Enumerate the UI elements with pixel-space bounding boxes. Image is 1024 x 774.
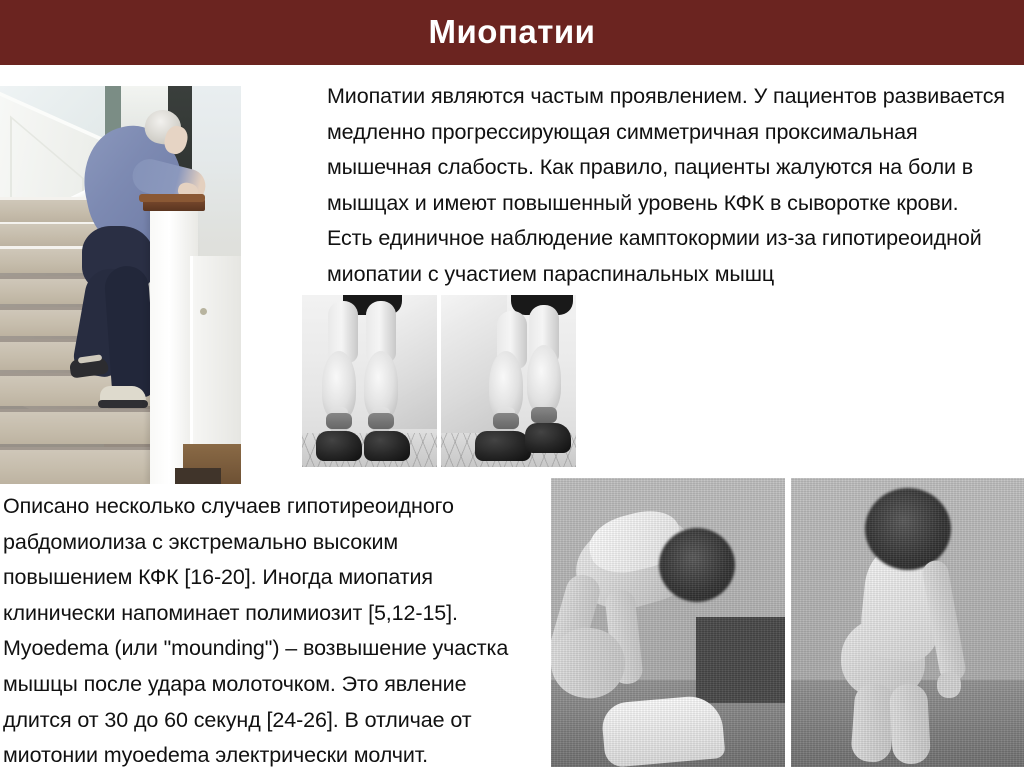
child-head: [865, 488, 951, 570]
left-sock: [326, 413, 352, 429]
near-shoe: [475, 431, 531, 461]
child-leg-right: [888, 683, 930, 765]
legs-panel-side: [441, 295, 576, 467]
paragraph-top-right: Миопатии являются частым проявлением. У …: [327, 79, 1024, 293]
dark-background-corner: [696, 617, 785, 704]
legs-panel-front: [302, 295, 437, 467]
floor-mat: [175, 468, 221, 484]
paragraph-bottom-left: Описано несколько случаев гипотиреоидног…: [3, 489, 533, 774]
child-head: [659, 528, 735, 602]
left-shoe: [316, 431, 362, 461]
near-sock: [493, 413, 519, 429]
stair-step: [0, 409, 172, 444]
stairs-handrail: [139, 194, 205, 202]
door-knob-icon: [200, 308, 207, 315]
floor-cloth: [600, 694, 725, 767]
child-leg-left: [850, 683, 895, 764]
far-shoe: [525, 423, 571, 453]
woman-leg-front: [103, 265, 156, 400]
elderly-woman-climbing-stairs-photo: [0, 86, 241, 484]
right-shoe: [364, 431, 410, 461]
gowers-sign-bw-photo: [551, 478, 1024, 767]
woman-shoe-sole: [98, 400, 148, 408]
slide-title-banner: Миопатии: [0, 0, 1024, 65]
gowers-panel-bent-over: [551, 478, 785, 767]
gowers-panel-standing: [791, 478, 1024, 767]
child-hand: [937, 672, 961, 698]
far-sock: [531, 407, 557, 423]
right-sock: [368, 413, 394, 429]
far-calf-hypertrophy: [527, 345, 561, 413]
hypertrophic-calves-bw-photo: [300, 293, 578, 469]
right-door: [190, 256, 241, 456]
page-title: Миопатии: [429, 15, 596, 50]
